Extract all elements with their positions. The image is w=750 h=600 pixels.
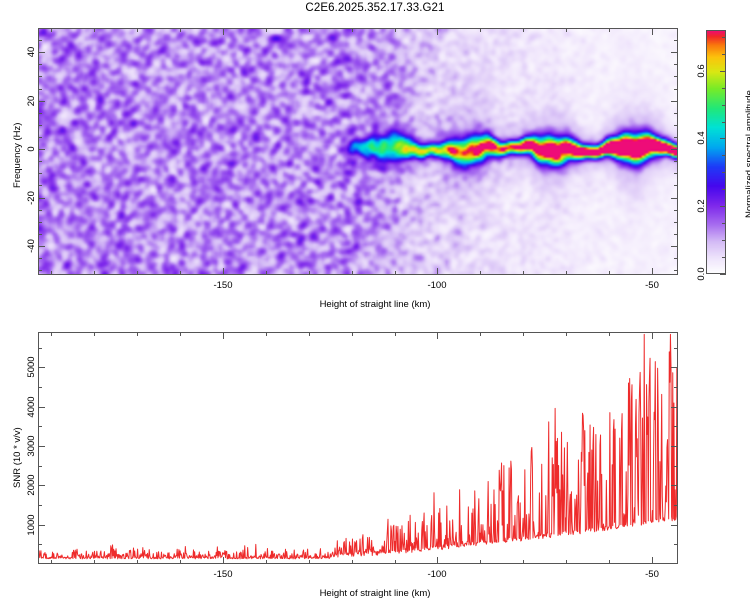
axis-tick xyxy=(674,64,678,65)
axis-tick xyxy=(51,28,52,32)
axis-tick xyxy=(180,560,181,564)
axis-tick xyxy=(395,560,396,564)
axis-tick xyxy=(674,426,678,427)
axis-tick xyxy=(437,28,438,35)
axis-tick xyxy=(38,505,42,506)
axis-tick xyxy=(180,28,181,32)
snr-ytick-label: 3000 xyxy=(26,424,37,468)
axis-tick xyxy=(38,348,42,349)
axis-tick xyxy=(38,270,42,271)
axis-tick xyxy=(652,557,653,564)
axis-tick xyxy=(38,198,45,199)
axis-tick xyxy=(223,332,224,339)
axis-tick xyxy=(674,544,678,545)
colorbar-tick-label: 0.4 xyxy=(696,124,707,152)
axis-tick xyxy=(51,560,52,564)
axis-tick xyxy=(566,560,567,564)
axis-tick xyxy=(38,544,42,545)
axis-tick xyxy=(722,172,726,173)
axis-tick xyxy=(38,234,42,235)
axis-tick xyxy=(352,28,353,32)
axis-tick xyxy=(674,222,678,223)
axis-tick xyxy=(671,367,678,368)
axis-tick xyxy=(38,137,42,138)
figure-title: C2E6.2025.352.17.33.G21 xyxy=(0,2,750,14)
colorbar-label: Normalized spectral amplitude xyxy=(744,90,750,218)
axis-tick xyxy=(309,271,310,275)
snr-y-axis-label: SNR (10 * v/v) xyxy=(12,427,23,488)
axis-tick xyxy=(480,28,481,32)
axis-tick xyxy=(352,332,353,336)
snr-xtick-label: -100 xyxy=(417,569,457,580)
axis-tick xyxy=(722,155,726,156)
axis-tick xyxy=(722,37,726,38)
axis-tick xyxy=(38,210,42,211)
axis-tick xyxy=(38,387,42,388)
axis-tick xyxy=(38,222,42,223)
axis-tick xyxy=(566,332,567,336)
axis-tick xyxy=(223,268,224,275)
axis-tick xyxy=(720,138,726,139)
spectrogram-xtick-label: -150 xyxy=(203,280,243,291)
spectrogram-ytick-label: -40 xyxy=(26,230,37,262)
axis-tick xyxy=(38,52,45,53)
axis-tick xyxy=(437,268,438,275)
axis-tick xyxy=(38,149,45,150)
axis-tick xyxy=(674,505,678,506)
axis-tick xyxy=(609,332,610,336)
snr-ytick-label: 4000 xyxy=(26,385,37,429)
axis-tick xyxy=(266,28,267,32)
axis-tick xyxy=(674,125,678,126)
axis-tick xyxy=(722,257,726,258)
axis-tick xyxy=(38,113,42,114)
axis-tick xyxy=(94,560,95,564)
axis-tick xyxy=(266,560,267,564)
axis-tick xyxy=(674,89,678,90)
axis-tick xyxy=(674,76,678,77)
axis-tick xyxy=(395,332,396,336)
axis-tick xyxy=(609,28,610,32)
axis-tick xyxy=(94,28,95,32)
axis-tick xyxy=(674,258,678,259)
axis-tick xyxy=(671,101,678,102)
axis-tick xyxy=(674,466,678,467)
axis-tick xyxy=(38,525,45,526)
axis-tick xyxy=(566,28,567,32)
axis-tick xyxy=(38,367,45,368)
axis-tick xyxy=(722,122,726,123)
axis-tick xyxy=(652,332,653,339)
axis-tick xyxy=(523,560,524,564)
axis-tick xyxy=(722,88,726,89)
axis-tick xyxy=(51,332,52,336)
axis-tick xyxy=(480,560,481,564)
spectrogram-x-axis-label: Height of straight line (km) xyxy=(0,299,750,310)
axis-tick xyxy=(671,52,678,53)
spectrogram-xtick-label: -50 xyxy=(632,280,672,291)
colorbar-tick-label: 0.6 xyxy=(696,57,707,85)
spectrogram-ytick-label: 40 xyxy=(26,36,37,68)
axis-tick xyxy=(652,268,653,275)
axis-tick xyxy=(674,185,678,186)
spectrogram-xtick-label: -100 xyxy=(417,280,457,291)
snr-ytick-label: 2000 xyxy=(26,463,37,507)
axis-tick xyxy=(38,101,45,102)
axis-tick xyxy=(38,89,42,90)
axis-tick xyxy=(609,271,610,275)
axis-tick xyxy=(38,161,42,162)
axis-tick xyxy=(722,223,726,224)
axis-tick xyxy=(137,332,138,336)
axis-tick xyxy=(437,557,438,564)
axis-tick xyxy=(38,485,45,486)
axis-tick xyxy=(94,271,95,275)
snr-ytick-label: 1000 xyxy=(26,503,37,547)
axis-tick xyxy=(309,332,310,336)
spectrogram-canvas xyxy=(38,28,678,275)
axis-tick xyxy=(720,274,726,275)
axis-tick xyxy=(722,54,726,55)
axis-tick xyxy=(38,466,42,467)
axis-tick xyxy=(671,525,678,526)
axis-tick xyxy=(38,40,42,41)
spectrogram-ytick-label: 0 xyxy=(26,133,37,165)
axis-tick xyxy=(38,125,42,126)
axis-tick xyxy=(674,270,678,271)
axis-tick xyxy=(266,332,267,336)
axis-tick xyxy=(180,332,181,336)
axis-tick xyxy=(38,426,42,427)
axis-tick xyxy=(38,407,45,408)
axis-tick xyxy=(180,271,181,275)
axis-tick xyxy=(480,271,481,275)
axis-tick xyxy=(395,28,396,32)
axis-tick xyxy=(38,258,42,259)
axis-tick xyxy=(671,246,678,247)
colorbar-tick-label: 0.2 xyxy=(696,192,707,220)
snr-ytick-label: 5000 xyxy=(26,345,37,389)
axis-tick xyxy=(671,407,678,408)
axis-tick xyxy=(566,271,567,275)
axis-tick xyxy=(674,40,678,41)
axis-tick xyxy=(671,485,678,486)
axis-tick xyxy=(352,271,353,275)
axis-tick xyxy=(523,332,524,336)
axis-tick xyxy=(94,332,95,336)
axis-tick xyxy=(674,173,678,174)
axis-tick xyxy=(137,271,138,275)
axis-tick xyxy=(223,557,224,564)
axis-tick xyxy=(523,271,524,275)
axis-tick xyxy=(137,560,138,564)
axis-tick xyxy=(609,560,610,564)
axis-tick xyxy=(437,332,438,339)
axis-tick xyxy=(523,28,524,32)
axis-tick xyxy=(38,185,42,186)
axis-tick xyxy=(674,348,678,349)
axis-tick xyxy=(720,206,726,207)
axis-tick xyxy=(309,560,310,564)
colorbar-frame xyxy=(706,30,726,274)
snr-canvas xyxy=(38,332,678,564)
axis-tick xyxy=(722,189,726,190)
snr-x-axis-label: Height of straight line (km) xyxy=(0,588,750,599)
axis-tick xyxy=(38,64,42,65)
axis-tick xyxy=(38,446,45,447)
axis-tick xyxy=(674,234,678,235)
axis-tick xyxy=(309,28,310,32)
snr-xtick-label: -50 xyxy=(632,569,672,580)
axis-tick xyxy=(51,271,52,275)
axis-tick xyxy=(38,76,42,77)
axis-tick xyxy=(671,149,678,150)
axis-tick xyxy=(674,210,678,211)
axis-tick xyxy=(674,137,678,138)
axis-tick xyxy=(720,71,726,72)
axis-tick xyxy=(674,113,678,114)
colorbar-tick-label: 0.0 xyxy=(696,260,707,288)
axis-tick xyxy=(674,161,678,162)
axis-tick xyxy=(671,198,678,199)
figure-root: C2E6.2025.352.17.33.G21 Frequency (Hz) H… xyxy=(0,0,750,600)
axis-tick xyxy=(223,28,224,35)
axis-tick xyxy=(38,173,42,174)
axis-tick xyxy=(480,332,481,336)
spectrogram-ytick-label: -20 xyxy=(26,182,37,214)
axis-tick xyxy=(671,446,678,447)
axis-tick xyxy=(652,28,653,35)
axis-tick xyxy=(352,560,353,564)
axis-tick xyxy=(137,28,138,32)
axis-tick xyxy=(722,240,726,241)
snr-xtick-label: -150 xyxy=(203,569,243,580)
spectrogram-y-axis-label: Frequency (Hz) xyxy=(12,122,23,187)
axis-tick xyxy=(722,105,726,106)
axis-tick xyxy=(395,271,396,275)
spectrogram-ytick-label: 20 xyxy=(26,85,37,117)
axis-tick xyxy=(38,246,45,247)
axis-tick xyxy=(266,271,267,275)
axis-tick xyxy=(674,387,678,388)
